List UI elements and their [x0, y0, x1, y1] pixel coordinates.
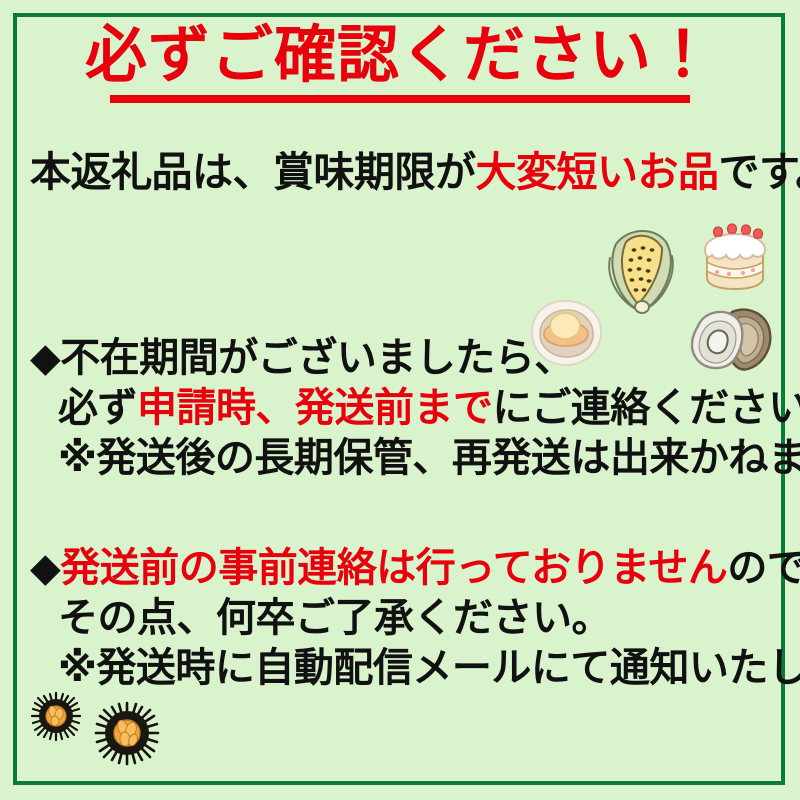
scallop-illustration: [524, 296, 608, 370]
lead-highlight: 大変短いお品: [476, 148, 719, 196]
headline-text: 必ずご確認ください！: [85, 22, 715, 89]
section2-line3: ※発送時に自動配信メールにて通知いたします。: [58, 648, 800, 688]
corn-illustration: [596, 222, 684, 318]
page-title: 必ずご確認ください！: [0, 22, 800, 103]
section1-line2: 必ず申請時、発送前までにご連絡ください。: [58, 388, 800, 428]
section1-line3: ※発送後の長期保管、再発送は出来かねます。: [58, 438, 800, 478]
section2-bullet-icon: ◆: [30, 545, 60, 591]
section1-line2-highlight: 申請時、発送前まで: [137, 385, 493, 431]
lead-text-part2: です。: [719, 148, 800, 196]
sea-urchin-illustration-small: [30, 690, 82, 742]
section1-line2-part1: 必ず: [58, 385, 137, 431]
section2-line1-part2: ので、: [727, 545, 800, 591]
oyster-illustration: [684, 302, 782, 374]
sea-urchin-illustration-large: [94, 700, 160, 766]
lead-text-part1: 本返礼品は、賞味期限が: [30, 148, 476, 196]
lead-paragraph: 本返礼品は、賞味期限が大変短いお品です。: [30, 152, 800, 193]
headline-underline: [110, 95, 690, 103]
strawberry-cake-illustration: [697, 222, 773, 294]
notice-content: 必ずご確認ください！ 本返礼品は、賞味期限が大変短いお品です。 ◆不在期間がござ…: [0, 0, 800, 800]
section2-line1: ◆発送前の事前連絡は行っておりませんので、: [30, 548, 800, 588]
section1-line2-part2: にご連絡ください。: [493, 385, 800, 431]
section2-line2: その点、何卒ご了承ください。: [58, 598, 611, 638]
section1-line1-text: 不在期間がございましたら、: [60, 335, 574, 381]
section2-line1-highlight: 発送前の事前連絡は行っておりません: [60, 545, 727, 591]
section1-bullet-icon: ◆: [30, 335, 60, 381]
notice-card: 必ずご確認ください！ 本返礼品は、賞味期限が大変短いお品です。 ◆不在期間がござ…: [0, 0, 800, 800]
section1-line1: ◆不在期間がございましたら、: [30, 338, 574, 378]
